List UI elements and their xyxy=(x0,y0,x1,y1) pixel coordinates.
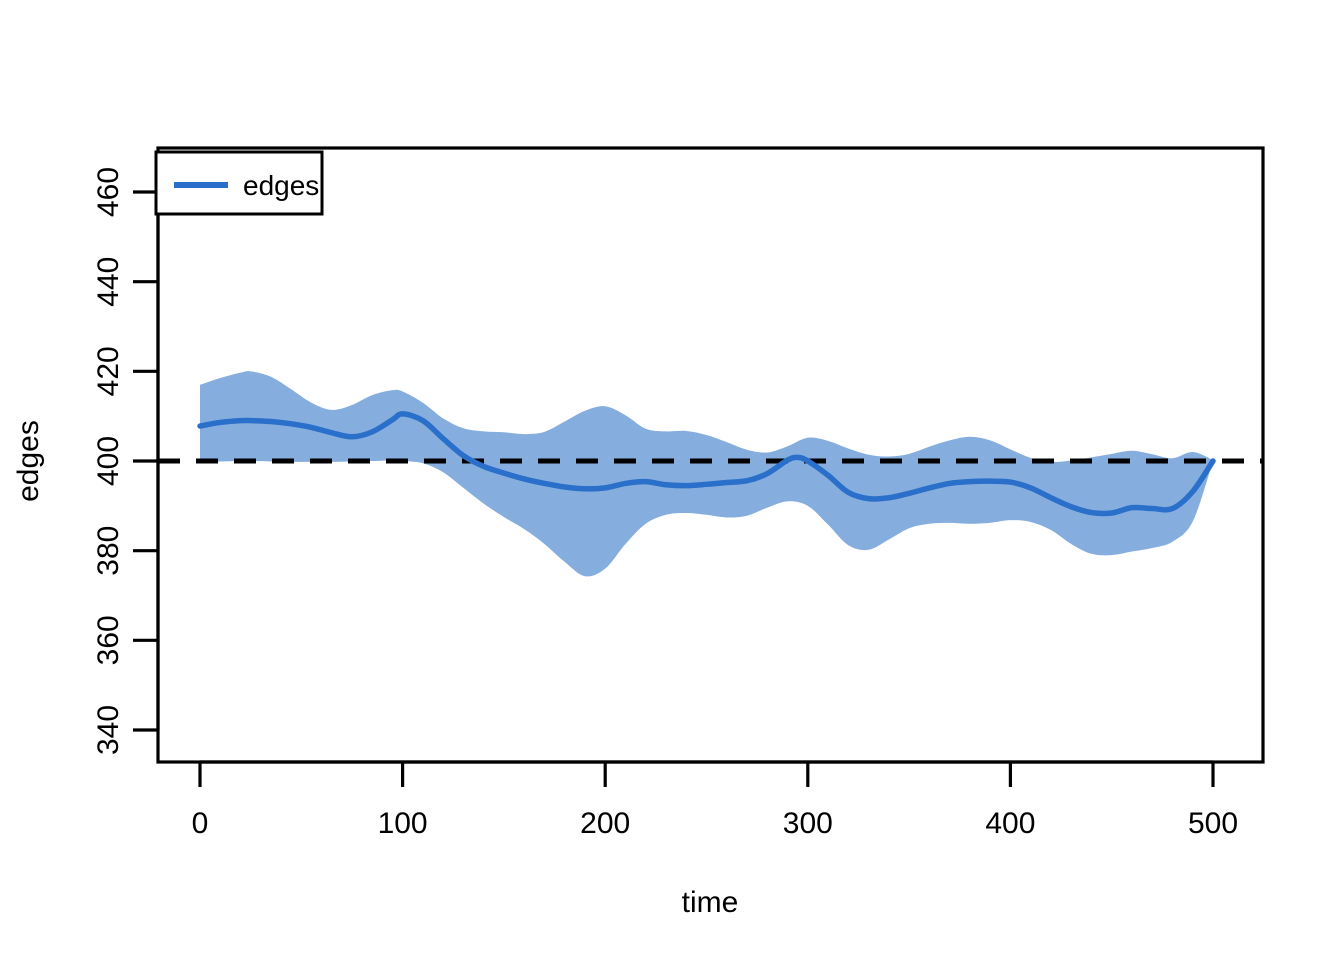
x-axis-tick-labels: 0100200300400500 xyxy=(192,807,1238,840)
x-axis: 0100200300400500 time xyxy=(192,762,1238,919)
x-axis-title: time xyxy=(682,886,739,919)
x-axis-tick-label: 100 xyxy=(378,807,428,840)
legend-label-edges: edges xyxy=(243,170,319,201)
y-axis-title: edges xyxy=(12,420,45,502)
y-axis-tick-label: 440 xyxy=(92,257,125,307)
x-axis-tick-label: 0 xyxy=(192,807,209,840)
x-axis-tick-label: 200 xyxy=(580,807,630,840)
y-axis: 340360380400420440460 edges xyxy=(12,167,158,755)
x-axis-tick-label: 400 xyxy=(985,807,1035,840)
y-axis-tick-label: 460 xyxy=(92,167,125,217)
y-axis-tick-label: 360 xyxy=(92,615,125,665)
y-axis-tick-label: 380 xyxy=(92,526,125,576)
y-axis-tick-label: 400 xyxy=(92,436,125,486)
y-axis-ticks xyxy=(133,192,158,730)
x-axis-ticks xyxy=(200,762,1213,787)
y-axis-tick-label: 340 xyxy=(92,705,125,755)
y-axis-tick-label: 420 xyxy=(92,346,125,396)
edges-over-time-chart: 340360380400420440460 edges 010020030040… xyxy=(0,0,1344,960)
x-axis-tick-label: 500 xyxy=(1188,807,1238,840)
y-axis-tick-labels: 340360380400420440460 xyxy=(92,167,125,755)
chart-legend[interactable]: edges xyxy=(156,152,322,214)
chart-figure: 340360380400420440460 edges 010020030040… xyxy=(0,0,1344,960)
x-axis-tick-label: 300 xyxy=(783,807,833,840)
